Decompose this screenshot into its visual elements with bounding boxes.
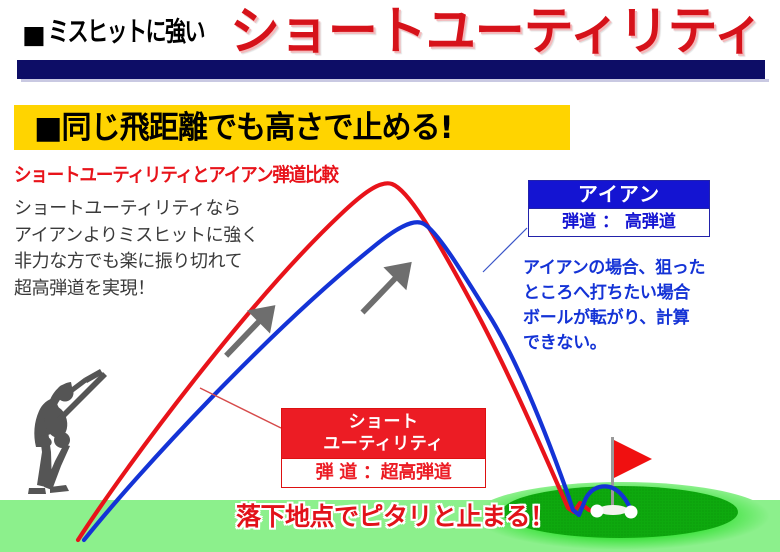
golfer-silhouette bbox=[28, 369, 107, 494]
iron-description: アイアンの場合、狙った ところへ打ちたい場合 ボールが転がり、計算 できない。 bbox=[523, 256, 705, 356]
iron-description-line: できない。 bbox=[523, 331, 705, 356]
flag-pole bbox=[611, 437, 614, 513]
utility-callout-title-line2: ユーティリティ bbox=[282, 433, 485, 455]
iron-leader-line bbox=[483, 228, 527, 272]
iron-ball bbox=[625, 506, 638, 519]
iron-callout-spec: 弾道 ： 高弾道 bbox=[529, 208, 709, 236]
iron-description-line: ところへ打ちたい場合 bbox=[523, 281, 705, 306]
flag-icon bbox=[614, 440, 652, 478]
infographic-canvas: ■ ミスヒットに強い ショートユーティリティ ■同じ飛距離でも高さで止める! シ… bbox=[0, 0, 780, 552]
utility-callout-title-line1: ショート bbox=[282, 411, 485, 433]
utility-callout-title: ショート ユーティリティ bbox=[282, 409, 485, 458]
arrow-upper-icon bbox=[360, 262, 411, 315]
iron-description-line: ボールが転がり、計算 bbox=[523, 306, 705, 331]
iron-description-line: アイアンの場合、狙った bbox=[523, 256, 705, 281]
iron-callout-box: アイアン 弾道 ： 高弾道 bbox=[528, 180, 710, 237]
utility-callout-spec: 弾 道 ：超高弾道 bbox=[282, 458, 485, 487]
green-caption: 落下地点でピタリと止まる！ bbox=[236, 500, 555, 534]
iron-callout-title: アイアン bbox=[529, 181, 709, 208]
utility-ball bbox=[591, 505, 604, 518]
utility-leader-line bbox=[200, 388, 281, 428]
utility-callout-box: ショート ユーティリティ 弾 道 ：超高弾道 bbox=[281, 408, 486, 488]
